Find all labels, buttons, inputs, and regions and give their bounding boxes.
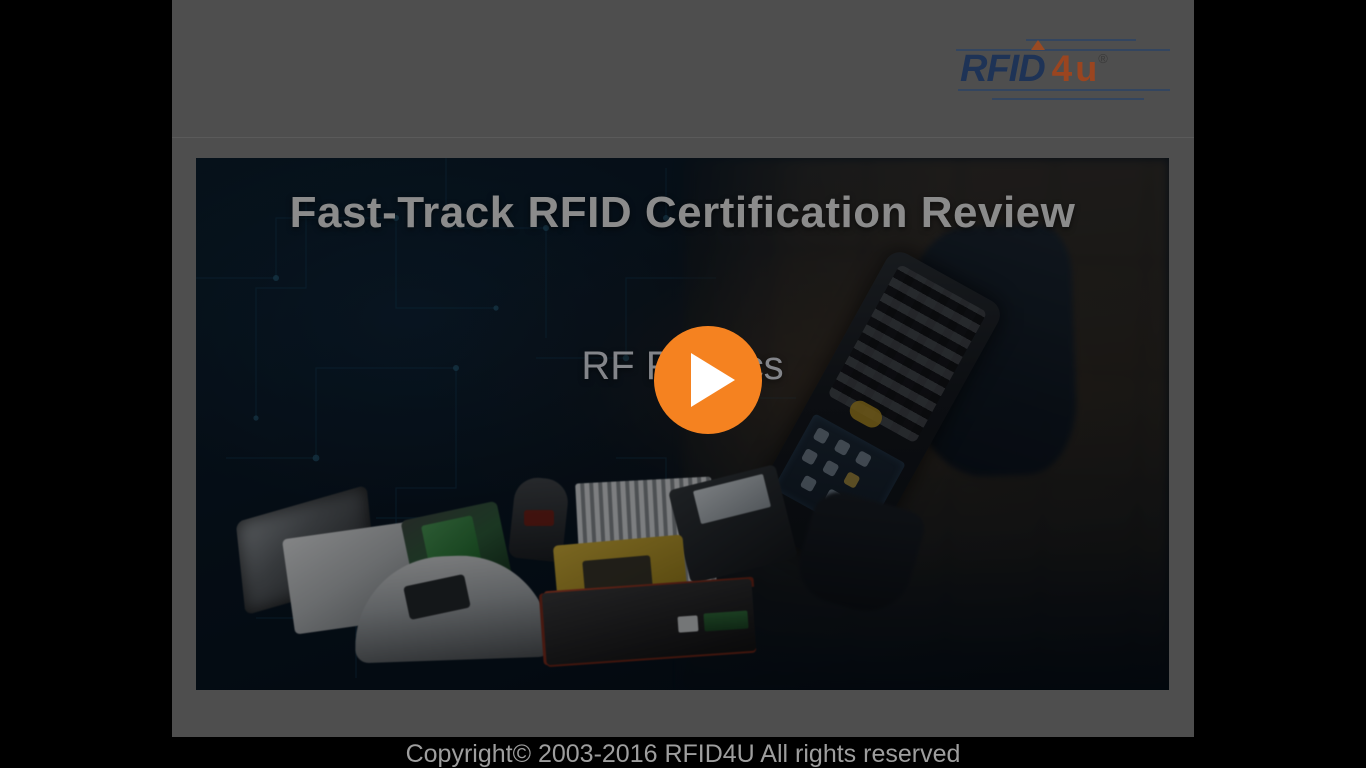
scanner-screen-icon [800, 475, 818, 493]
video-player[interactable]: RFID 4 u ® [0, 0, 1366, 768]
logo-wordmark: RFID 4 u ® [960, 48, 1107, 90]
scanner-screen-icon [801, 448, 819, 466]
slide-title: Fast-Track RFID Certification Review [196, 188, 1169, 238]
scanner-screen-icon [822, 460, 840, 478]
scanner-screen-icon [812, 427, 830, 445]
reader-terminal-block [703, 610, 748, 631]
registered-trademark-icon: ® [1098, 51, 1108, 66]
play-button[interactable] [654, 326, 762, 434]
logo-text-rfid: RFID [960, 48, 1045, 90]
footer-bar: Copyright© 2003-2016 RFID4U All rights r… [0, 737, 1366, 768]
rfid4u-logo[interactable]: RFID 4 u ® [952, 32, 1174, 104]
scanner-screen-icon [854, 450, 872, 468]
site-header: RFID 4 u ® [172, 0, 1194, 138]
scanner-screen-icon [843, 471, 861, 489]
handheld-rfid-scanner-photo [784, 223, 1088, 633]
scanner-laser-window [524, 510, 554, 526]
play-icon [691, 353, 735, 407]
logo-rule-bottom-long [958, 89, 1170, 91]
copyright-text: Copyright© 2003-2016 RFID4U All rights r… [0, 740, 1366, 768]
video-stage[interactable]: Fast-Track RFID Certification Review RF … [196, 158, 1169, 690]
logo-text-u: u [1075, 48, 1097, 90]
rfid-hardware-lineup-photo [226, 468, 746, 668]
page-content-column: RFID 4 u ® [172, 0, 1194, 737]
reader-ethernet-port [677, 615, 698, 632]
scanner-screen-icon [833, 439, 851, 457]
logo-rule-bottom-short [992, 98, 1144, 100]
logo-text-four: 4 [1052, 48, 1073, 90]
